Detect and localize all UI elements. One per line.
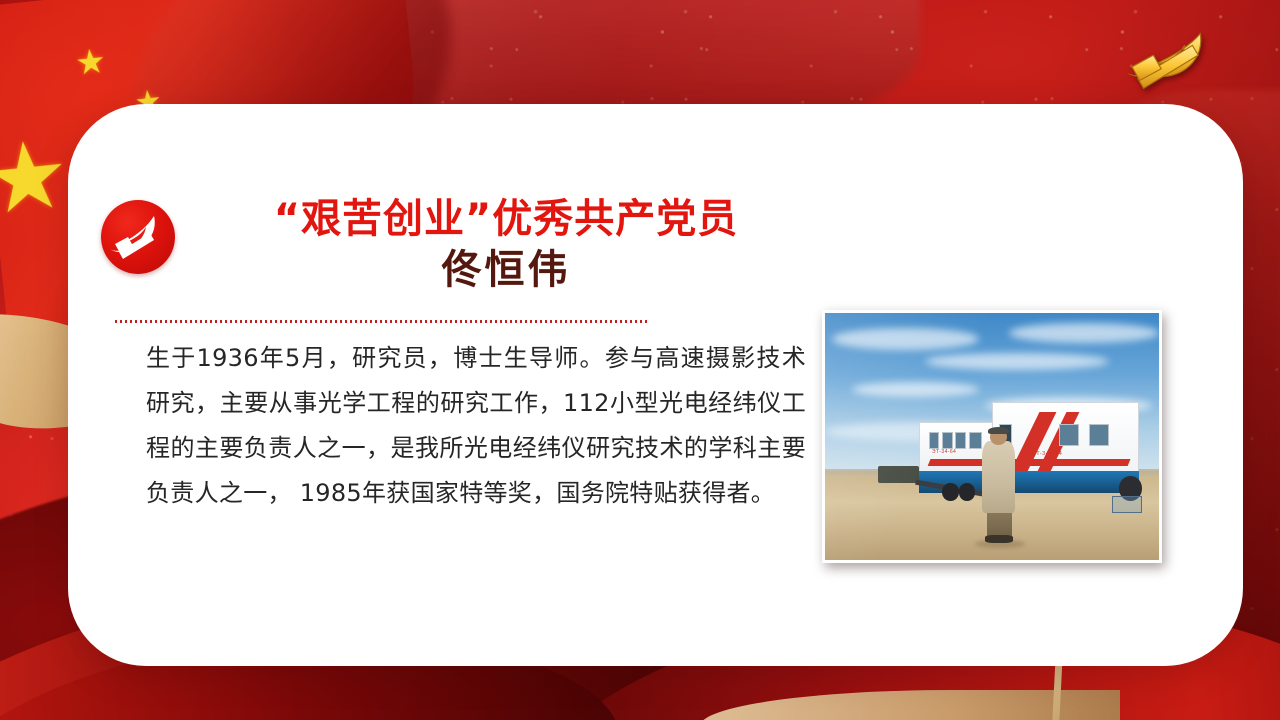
biography-text: 生于1936年5月，研究员，博士生导师。参与高速摄影技术研究，主要从事光学工程的… (146, 336, 806, 516)
hammer-and-sickle-badge-icon (101, 200, 175, 274)
dotted-divider (115, 320, 648, 323)
photo-image: ЭТ-34-64 ST-341-74 (825, 313, 1159, 560)
photo-sheen (825, 313, 1159, 560)
page-title: “艰苦创业”优秀共产党员 (186, 196, 826, 243)
slide-root: ★ ★ ★ ★ ★ (0, 0, 1280, 720)
person-name: 佟恒伟 (186, 245, 826, 295)
title-block: “艰苦创业”优秀共产党员 佟恒伟 (186, 196, 826, 295)
flag-star-small-1: ★ (74, 44, 108, 81)
portrait-photo: ЭТ-34-64 ST-341-74 (822, 310, 1162, 563)
flag-star-large: ★ (0, 127, 74, 230)
content-card: “艰苦创业”优秀共产党员 佟恒伟 生于1936年5月，研究员，博士生导师。参与高… (68, 104, 1243, 666)
hammer-and-sickle-gold-icon (1110, 22, 1228, 100)
